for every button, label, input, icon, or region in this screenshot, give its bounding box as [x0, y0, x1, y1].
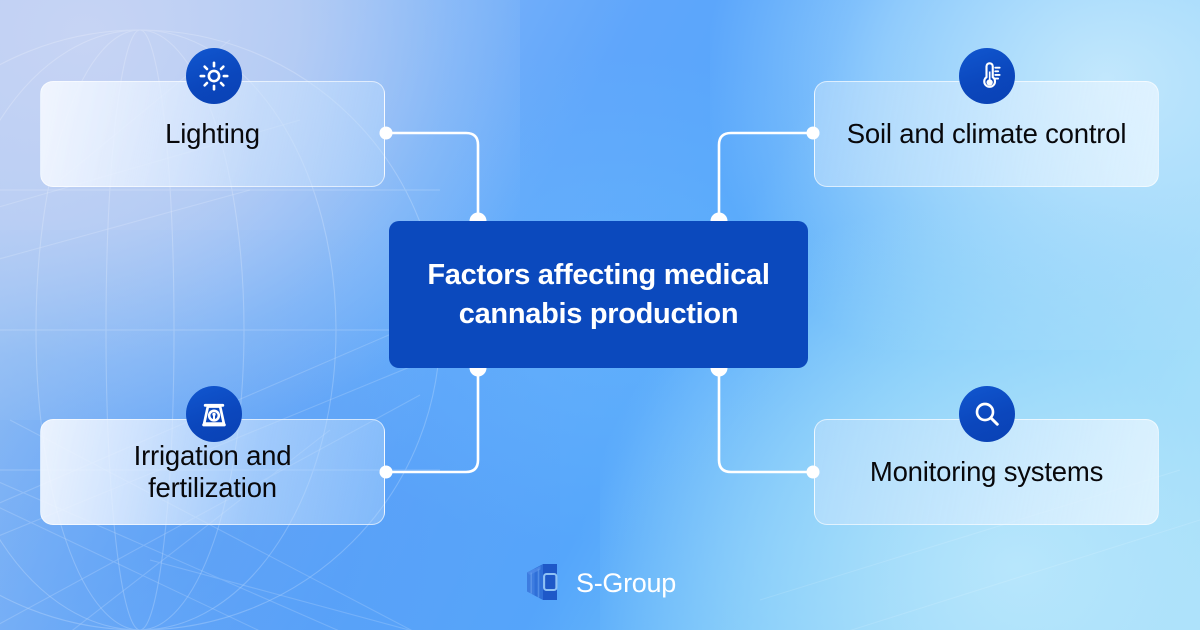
fertilizer-plant-icon-badge: [186, 386, 242, 442]
brand-footer: S-Group: [0, 562, 1200, 604]
magnifier-icon: [972, 399, 1002, 429]
node-label-soil-climate: Soil and climate control: [847, 118, 1127, 150]
fertilizer-plant-icon: [198, 398, 230, 430]
thermometer-icon: [972, 61, 1002, 91]
magnifier-icon-badge: [959, 386, 1015, 442]
node-label-monitoring: Monitoring systems: [870, 456, 1103, 488]
infographic-canvas: Lighting Soil and climate control: [0, 0, 1200, 630]
sun-icon: [199, 61, 229, 91]
layered-cube-logo-icon: [524, 562, 564, 604]
node-label-lighting: Lighting: [165, 118, 260, 150]
center-node[interactable]: Factors affecting medical cannabis produ…: [389, 221, 808, 368]
node-label-irrigation: Irrigation and fertilization: [134, 440, 292, 504]
center-node-title: Factors affecting medical cannabis produ…: [427, 256, 769, 333]
brand-name: S-Group: [576, 568, 676, 599]
sun-icon-badge: [186, 48, 242, 104]
thermometer-icon-badge: [959, 48, 1015, 104]
